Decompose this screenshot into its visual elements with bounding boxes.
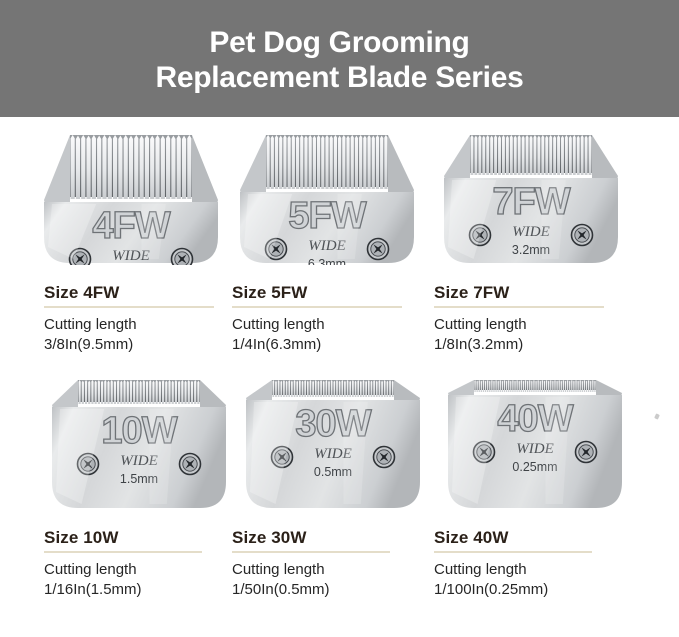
blade-image-10w: 10WWIDE1.5mm: [44, 376, 208, 524]
product-card-5fw: 5FWWIDE6.3mm Size 5FW Cutting length 1/4…: [208, 131, 416, 354]
product-row-top: 4FWWIDE9.5mm Size 4FW Cutting length 3/8…: [0, 117, 679, 354]
title-underline-5fw: [232, 306, 402, 308]
blade-illustration-5fw: 5FWWIDE6.3mm: [240, 131, 414, 265]
title-underline-40w: [434, 551, 592, 553]
title-underline-10w: [44, 551, 202, 553]
cutting-length-label-4fw: Cutting length: [44, 315, 208, 335]
product-info-10w: Size 10W Cutting length 1/16In(1.5mm): [44, 524, 208, 599]
product-card-4fw: 4FWWIDE9.5mm Size 4FW Cutting length 3/8…: [0, 131, 208, 354]
blade-illustration-40w: 40WWIDE0.25mm: [448, 376, 622, 510]
cutting-length-value-40w: 1/100In(0.25mm): [434, 580, 624, 600]
blade-illustration-4fw: 4FWWIDE9.5mm: [44, 131, 218, 265]
cutting-length-label-30w: Cutting length: [232, 560, 416, 580]
screw-icon: [368, 239, 389, 260]
size-title-10w: Size 10W: [44, 528, 208, 548]
blade-svg-slot-3: 10WWIDE1.5mm: [52, 376, 226, 510]
blade-illustration-10w: 10WWIDE1.5mm: [52, 376, 226, 510]
blade-svg-slot-5: 40WWIDE0.25mm: [448, 376, 622, 510]
blade-image-30w: 30WWIDE0.5mm: [232, 376, 416, 524]
cutting-length-label-5fw: Cutting length: [232, 315, 416, 335]
product-grid: 4FWWIDE9.5mm Size 4FW Cutting length 3/8…: [0, 117, 679, 599]
title-underline-7fw: [434, 306, 604, 308]
size-title-30w: Size 30W: [232, 528, 416, 548]
size-title-7fw: Size 7FW: [434, 283, 624, 303]
cutting-length-value-10w: 1/16In(1.5mm): [44, 580, 208, 600]
title-underline-30w: [232, 551, 390, 553]
header-banner: Pet Dog Grooming Replacement Blade Serie…: [0, 0, 679, 117]
cutting-length-value-30w: 1/50In(0.5mm): [232, 580, 416, 600]
product-info-4fw: Size 4FW Cutting length 3/8In(9.5mm): [44, 279, 208, 354]
blade-illustration-30w: 30WWIDE0.5mm: [246, 376, 420, 510]
product-card-40w: 40WWIDE0.25mm Size 40W Cutting length 1/…: [416, 376, 624, 599]
cutting-length-value-4fw: 3/8In(9.5mm): [44, 335, 208, 355]
screw-icon: [172, 249, 193, 266]
cutting-length-label-40w: Cutting length: [434, 560, 624, 580]
screw-icon: [572, 225, 593, 246]
product-info-40w: Size 40W Cutting length 1/100In(0.25mm): [434, 524, 624, 599]
blade-svg-slot-1: 5FWWIDE6.3mm: [240, 131, 414, 265]
screw-icon: [576, 442, 597, 463]
blade-svg-slot-4: 30WWIDE0.5mm: [246, 376, 420, 510]
screw-icon: [180, 454, 201, 475]
blade-illustration-7fw: 7FWWIDE3.2mm: [444, 131, 618, 265]
cutting-length-label-7fw: Cutting length: [434, 315, 624, 335]
blade-image-7fw: 7FWWIDE3.2mm: [434, 131, 624, 279]
blade-image-5fw: 5FWWIDE6.3mm: [232, 131, 416, 279]
size-title-5fw: Size 5FW: [232, 283, 416, 303]
size-title-4fw: Size 4FW: [44, 283, 208, 303]
screw-icon: [374, 447, 395, 468]
product-card-30w: 30WWIDE0.5mm Size 30W Cutting length 1/5…: [208, 376, 416, 599]
size-title-40w: Size 40W: [434, 528, 624, 548]
product-card-7fw: 7FWWIDE3.2mm Size 7FW Cutting length 1/8…: [416, 131, 624, 354]
header-title-line-1: Pet Dog Grooming: [209, 25, 469, 60]
header-title-line-2: Replacement Blade Series: [156, 60, 524, 95]
product-row-bottom: 10WWIDE1.5mm Size 10W Cutting length 1/1…: [0, 354, 679, 599]
blade-image-4fw: 4FWWIDE9.5mm: [44, 131, 208, 279]
cutting-length-value-5fw: 1/4In(6.3mm): [232, 335, 416, 355]
product-info-30w: Size 30W Cutting length 1/50In(0.5mm): [232, 524, 416, 599]
blade-svg-slot-0: 4FWWIDE9.5mm: [44, 131, 218, 265]
product-info-7fw: Size 7FW Cutting length 1/8In(3.2mm): [434, 279, 624, 354]
cutting-length-value-7fw: 1/8In(3.2mm): [434, 335, 624, 355]
blade-image-40w: 40WWIDE0.25mm: [434, 376, 624, 524]
cutting-length-label-10w: Cutting length: [44, 560, 208, 580]
title-underline-4fw: [44, 306, 214, 308]
blade-svg-slot-2: 7FWWIDE3.2mm: [444, 131, 618, 265]
product-card-10w: 10WWIDE1.5mm Size 10W Cutting length 1/1…: [0, 376, 208, 599]
product-info-5fw: Size 5FW Cutting length 1/4In(6.3mm): [232, 279, 416, 354]
